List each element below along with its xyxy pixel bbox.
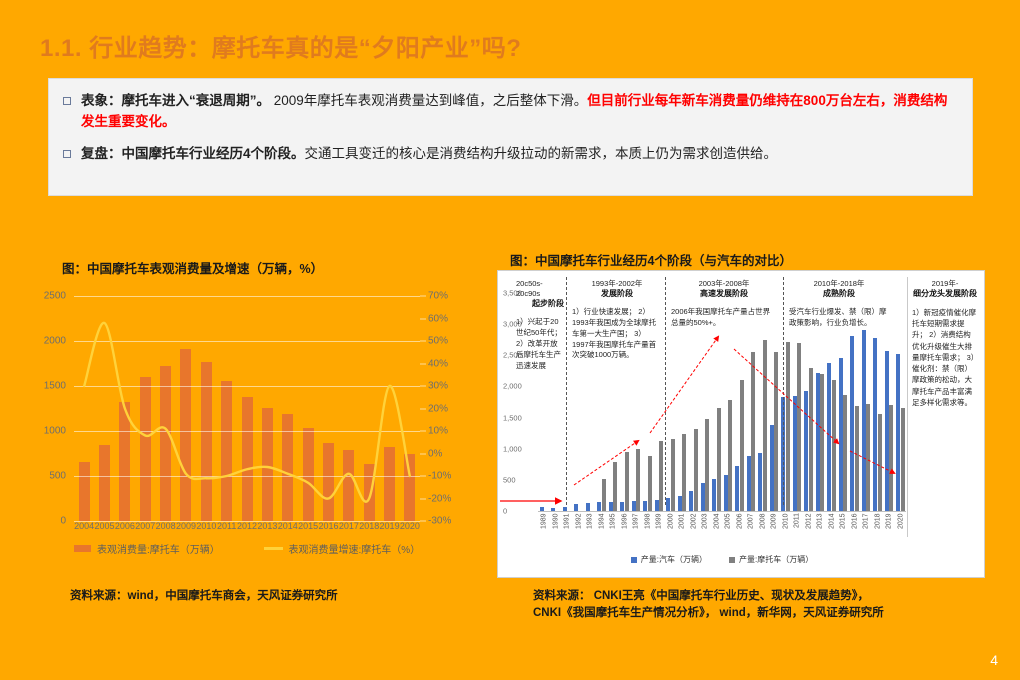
right-chart-bar-car xyxy=(586,503,590,511)
right-chart-bar-moto xyxy=(740,380,744,511)
right-chart-bar-car xyxy=(655,500,659,511)
left-chart-gridline xyxy=(74,296,420,297)
left-chart-gridline xyxy=(74,386,420,387)
right-chart-x-tick-label: 2005 xyxy=(722,513,734,545)
right-chart-x-tick-label: 2015 xyxy=(837,513,849,545)
left-chart-bar xyxy=(262,408,273,521)
right-chart-legend: 产量:汽车（万辆） 产量:摩托车（万辆） xyxy=(538,554,906,565)
right-chart-x-tick-label: 2009 xyxy=(768,513,780,545)
right-chart-y-tick-label: 2,000 xyxy=(503,382,522,391)
right-chart-x-tick-label: 1994 xyxy=(596,513,608,545)
right-chart-bar-car xyxy=(793,396,797,511)
left-chart-y2-tick-label: 20% xyxy=(428,403,448,414)
right-chart-x-tick-label: 2002 xyxy=(688,513,700,545)
right-chart-bar-moto xyxy=(889,405,893,511)
left-chart-bar-slot xyxy=(379,296,399,521)
bullet-square-icon xyxy=(63,97,71,105)
right-chart-y-tick-label: 1,500 xyxy=(503,413,522,422)
phase-column-2: 1993年-2002年发展阶段1）行业快速发展； 2）1993年我国成为全球摩托… xyxy=(572,279,662,361)
page-title: 1.1. 行业趋势：摩托车真的是“夕阳产业”吗? xyxy=(40,28,521,63)
right-chart-bar-moto xyxy=(682,434,686,511)
left-chart-y2-tick xyxy=(420,476,426,477)
right-chart-bar-moto xyxy=(659,441,663,511)
left-chart-x-tick-label: 2015 xyxy=(298,521,318,531)
left-chart-y-tick-label: 0 xyxy=(60,516,66,527)
bullet-text: 复盘：中国摩托车行业经历4个阶段。交通工具变迁的核心是消费结构升级拉动的新需求，… xyxy=(81,144,777,165)
right-chart-bar-car xyxy=(896,354,900,511)
right-chart-x-tick-label: 1997 xyxy=(630,513,642,545)
left-chart-bar xyxy=(119,402,130,521)
phase-separator-3 xyxy=(783,277,784,505)
right-chart-bar-car xyxy=(816,373,820,511)
right-chart-bar-moto xyxy=(648,456,652,511)
right-chart-bar-car xyxy=(770,425,774,511)
left-chart-y2-tick-label: 40% xyxy=(428,358,448,369)
phase-column-1: 20c50s-20c90s起步阶段1）兴起于20世纪50年代； 2）改革开放后摩… xyxy=(516,279,564,371)
left-chart-y2-tick xyxy=(420,431,426,432)
left-chart-bar-slot xyxy=(298,296,318,521)
right-chart-x-tick-label: 2018 xyxy=(872,513,884,545)
left-chart-x-tick-label: 2012 xyxy=(237,521,257,531)
left-chart-bar-slot xyxy=(115,296,135,521)
left-chart-y-tick-label: 2000 xyxy=(44,336,66,347)
left-chart-x-tick-label: 2019 xyxy=(379,521,399,531)
line-swatch-icon xyxy=(264,547,283,550)
left-chart-bar-slot xyxy=(257,296,277,521)
legend-item-car: 产量:汽车（万辆） xyxy=(631,554,707,565)
left-chart-x-tick-label: 2005 xyxy=(94,521,114,531)
right-chart-x-tick-label: 2001 xyxy=(676,513,688,545)
right-chart-bar-moto xyxy=(671,439,675,511)
bullet-item: 表象：摩托车进入“衰退周期”。 2009年摩托车表观消费量达到峰值，之后整体下滑… xyxy=(63,91,956,133)
right-chart-x-tick-label: 1999 xyxy=(653,513,665,545)
left-chart-x-tick-label: 2016 xyxy=(318,521,338,531)
left-chart-y2-tick-label: 10% xyxy=(428,426,448,437)
right-chart-bar-car xyxy=(620,502,624,511)
left-chart-y2-tick xyxy=(420,453,426,454)
left-chart-bar xyxy=(364,464,375,521)
left-chart-y2-tick xyxy=(420,363,426,364)
moto-swatch-icon xyxy=(729,557,735,563)
right-chart-x-tick-label: 1993 xyxy=(584,513,596,545)
right-figure-source: 资料来源： CNKI王亮《中国摩托车行业历史、现状及发展趋势》， CNKI《我国… xyxy=(533,588,884,623)
bullet-text: 表象：摩托车进入“衰退周期”。 2009年摩托车表观消费量达到峰值，之后整体下滑… xyxy=(81,91,956,133)
phase-name: 细分龙头发展阶段 xyxy=(912,289,978,300)
left-chart-bar xyxy=(140,377,151,521)
phase-note: 受汽车行业爆发、禁（限）摩政策影响，行业负增长。 xyxy=(789,307,889,329)
right-chart-bar-moto xyxy=(832,380,836,511)
legend-label: 表观消费量增速:摩托车（%） xyxy=(289,541,420,556)
right-chart-x-tick-label: 2004 xyxy=(711,513,723,545)
right-chart-bar-moto xyxy=(797,343,801,511)
car-swatch-icon xyxy=(631,557,637,563)
right-chart-bar-car xyxy=(850,336,854,511)
right-chart-x-tick-label: 2010 xyxy=(780,513,792,545)
right-chart-bar-moto xyxy=(878,414,882,511)
left-figure-source: 资料来源：wind，中国摩托车商会，天风证券研究所 xyxy=(70,588,338,605)
right-chart-bar-car xyxy=(666,498,670,511)
left-chart-x-tick-label: 2008 xyxy=(155,521,175,531)
bullet-square-icon xyxy=(63,150,71,158)
left-chart-bar xyxy=(282,414,293,521)
left-chart-bar-slot xyxy=(217,296,237,521)
left-chart-bar-slot xyxy=(237,296,257,521)
right-chart-axis-line xyxy=(538,511,906,512)
bar-swatch-icon xyxy=(74,545,91,552)
right-chart-x-tick-label: 2006 xyxy=(734,513,746,545)
left-chart-bar xyxy=(404,454,415,521)
left-chart-plot-area: 05001000150020002500-30%-20%-10%0%10%20%… xyxy=(74,296,420,521)
legend-item-consumption: 表观消费量:摩托车（万辆） xyxy=(74,541,220,556)
bullet-lead: 复盘：中国摩托车行业经历4个阶段。 xyxy=(81,146,305,161)
phase-name: 发展阶段 xyxy=(572,289,662,300)
right-chart-bar-moto xyxy=(809,368,813,511)
right-chart-bar-moto xyxy=(717,408,721,511)
left-chart-bar-slot xyxy=(176,296,196,521)
left-chart-y2-tick xyxy=(420,296,426,297)
right-figure-caption: 图：中国摩托车行业经历4个阶段（与汽车的对比） xyxy=(510,250,792,269)
left-chart-gridline xyxy=(74,476,420,477)
summary-box: 表象：摩托车进入“衰退周期”。 2009年摩托车表观消费量达到峰值，之后整体下滑… xyxy=(48,78,973,196)
left-chart-bar-slot xyxy=(155,296,175,521)
right-chart-bar-moto xyxy=(705,419,709,511)
right-chart-bar-car xyxy=(597,502,601,511)
right-chart-inner: 1989199019911992199319941995199619971998… xyxy=(498,271,984,577)
bullet-normal: 2009年摩托车表观消费量达到峰值，之后整体下滑。 xyxy=(270,93,587,108)
right-chart-bar-car xyxy=(678,496,682,511)
right-chart-bar-car xyxy=(701,483,705,511)
left-chart-y-tick-label: 2500 xyxy=(44,291,66,302)
phase-note: 1）兴起于20世纪50年代； 2）改革开放后摩托车生产迅速发展 xyxy=(516,317,564,371)
right-chart-x-tick-label: 2000 xyxy=(665,513,677,545)
left-chart-bar xyxy=(343,450,354,521)
right-chart-bar-moto xyxy=(855,406,859,511)
left-chart-bar-slot xyxy=(278,296,298,521)
left-chart-y2-tick-label: 50% xyxy=(428,336,448,347)
left-chart-x-tick-label: 2009 xyxy=(176,521,196,531)
right-chart-bar-car xyxy=(747,456,751,511)
right-chart-x-tick-label: 2020 xyxy=(895,513,907,545)
left-chart-bar-slot xyxy=(400,296,420,521)
left-chart-x-tick-label: 2013 xyxy=(257,521,277,531)
right-chart-divider xyxy=(907,277,908,537)
left-chart-y2-tick-label: 0% xyxy=(428,448,442,459)
right-chart-bar-moto xyxy=(774,352,778,511)
legend-label: 表观消费量:摩托车（万辆） xyxy=(97,541,220,556)
page-number: 4 xyxy=(990,652,998,668)
right-chart: 1989199019911992199319941995199619971998… xyxy=(497,270,985,578)
right-chart-bar-moto xyxy=(901,408,905,511)
left-chart-x-tick-label: 2010 xyxy=(196,521,216,531)
right-chart-x-tick-label: 1990 xyxy=(550,513,562,545)
right-chart-x-tick-label: 2019 xyxy=(883,513,895,545)
source-line-1: 资料来源： CNKI王亮《中国摩托车行业历史、现状及发展趋势》， xyxy=(533,588,884,605)
right-chart-bar-moto xyxy=(602,479,606,511)
left-chart-y2-tick xyxy=(420,408,426,409)
left-chart-bar xyxy=(384,447,395,521)
left-chart-bar-slot xyxy=(318,296,338,521)
phase-name: 成熟阶段 xyxy=(789,289,889,300)
phase-note: 2006年我国摩托车产量占世界总量的50%+。 xyxy=(671,307,777,329)
right-chart-y-tick-label: 1,000 xyxy=(503,444,522,453)
right-chart-bar-moto xyxy=(751,352,755,511)
left-chart-bar xyxy=(160,366,171,521)
left-chart-bar xyxy=(221,381,232,521)
right-chart-x-tick-label: 1998 xyxy=(642,513,654,545)
source-line-2: CNKI《我国摩托车生产情况分析》， wind，新华网，天风证券研究所 xyxy=(533,605,884,622)
right-chart-x-tick-label: 2017 xyxy=(860,513,872,545)
right-chart-bar-car xyxy=(862,330,866,511)
left-chart-y2-tick-label: 30% xyxy=(428,381,448,392)
right-chart-x-tick-label: 1996 xyxy=(619,513,631,545)
phase-years: 1993年-2002年 xyxy=(572,279,662,289)
phase-column-5: 2019年- 细分龙头发展阶段 1）新冠疫情催化摩托车短期需求提升； 2）消费结… xyxy=(912,279,978,408)
left-chart-y2-tick xyxy=(420,341,426,342)
right-chart-bar-car xyxy=(574,504,578,511)
phase-separator-1 xyxy=(566,277,567,505)
right-chart-x-tick-label: 1995 xyxy=(607,513,619,545)
right-chart-bar-slot xyxy=(895,293,907,511)
left-figure-caption: 图：中国摩托车表观消费量及增速（万辆，%） xyxy=(62,258,323,277)
right-chart-bar-moto xyxy=(636,449,640,511)
left-chart-x-tick-label: 2006 xyxy=(115,521,135,531)
left-chart-bar xyxy=(79,462,90,521)
left-chart-bar xyxy=(99,445,110,521)
right-chart-bar-moto xyxy=(866,404,870,511)
right-chart-bar-moto xyxy=(786,342,790,511)
right-chart-y-tick-label: 500 xyxy=(503,475,516,484)
phase-column-4: 2010年-2018年成熟阶段受汽车行业爆发、禁（限）摩政策影响，行业负增长。 xyxy=(789,279,889,329)
left-chart: 05001000150020002500-30%-20%-10%0%10%20%… xyxy=(18,288,478,568)
right-chart-x-axis: 1989199019911992199319941995199619971998… xyxy=(538,513,906,545)
legend-item-growth: 表观消费量增速:摩托车（%） xyxy=(264,541,420,556)
right-chart-bar-car xyxy=(632,501,636,511)
left-chart-y2-tick-label: -10% xyxy=(428,471,451,482)
left-chart-bar xyxy=(323,443,334,521)
left-chart-x-tick-label: 2014 xyxy=(278,521,298,531)
bullet-normal: 交通工具变迁的核心是消费结构升级拉动的新需求，本质上仍为需求创造供给。 xyxy=(305,146,778,161)
left-chart-y2-tick xyxy=(420,498,426,499)
phase-note: 1）新冠疫情催化摩托车短期需求提升； 2）消费结构优化升级催生大排量摩托车需求；… xyxy=(912,307,978,408)
right-chart-bar-car xyxy=(804,391,808,511)
right-chart-x-tick-label: 2016 xyxy=(849,513,861,545)
right-chart-bar-car xyxy=(643,501,647,511)
right-chart-bar-moto xyxy=(728,400,732,511)
left-chart-bar-slot xyxy=(196,296,216,521)
left-chart-x-tick-label: 2004 xyxy=(74,521,94,531)
phase-name: 高速发展阶段 xyxy=(671,289,777,300)
right-chart-x-tick-label: 1991 xyxy=(561,513,573,545)
right-chart-x-tick-label: 2014 xyxy=(826,513,838,545)
right-chart-bar-moto xyxy=(694,429,698,511)
left-chart-y2-tick-label: -30% xyxy=(428,516,451,527)
left-chart-x-tick-label: 2018 xyxy=(359,521,379,531)
left-chart-bars xyxy=(74,296,420,521)
right-chart-x-tick-label: 1992 xyxy=(573,513,585,545)
left-chart-x-tick-label: 2011 xyxy=(217,521,237,531)
left-chart-gridline xyxy=(74,341,420,342)
right-chart-bar-car xyxy=(724,475,728,511)
legend-label: 产量:摩托车（万辆） xyxy=(739,554,813,565)
phase-separator-2 xyxy=(665,277,666,505)
left-chart-gridline xyxy=(74,431,420,432)
right-chart-bar-car xyxy=(885,351,889,511)
left-chart-x-tick-label: 2017 xyxy=(339,521,359,531)
phase-years: 2003年-2008年 xyxy=(671,279,777,289)
right-chart-bar-moto xyxy=(820,374,824,511)
right-chart-bar-car xyxy=(873,338,877,511)
left-chart-y2-tick xyxy=(420,318,426,319)
left-chart-bar-slot xyxy=(74,296,94,521)
left-chart-x-tick-label: 2020 xyxy=(400,521,420,531)
right-chart-x-tick-label: 2011 xyxy=(791,513,803,545)
right-chart-bar-car xyxy=(758,453,762,511)
left-chart-bar-slot xyxy=(94,296,114,521)
left-chart-bar xyxy=(303,428,314,521)
legend-item-moto: 产量:摩托车（万辆） xyxy=(729,554,813,565)
left-chart-y2-tick xyxy=(420,521,426,522)
left-chart-bar-slot xyxy=(135,296,155,521)
left-chart-y2-tick-label: 70% xyxy=(428,291,448,302)
slide-canvas: 1.1. 行业趋势：摩托车真的是“夕阳产业”吗? 表象：摩托车进入“衰退周期”。… xyxy=(0,0,1020,680)
right-chart-bar-car xyxy=(839,358,843,511)
phase-name: 起步阶段 xyxy=(516,299,564,310)
legend-label: 产量:汽车（万辆） xyxy=(641,554,707,565)
right-chart-bar-moto xyxy=(843,395,847,511)
right-chart-x-tick-label: 2008 xyxy=(757,513,769,545)
phase-years: 2019年- xyxy=(912,279,978,289)
left-chart-x-tick-label: 2007 xyxy=(135,521,155,531)
left-chart-bar xyxy=(242,397,253,521)
right-chart-bar-car xyxy=(827,363,831,511)
bullet-item: 复盘：中国摩托车行业经历4个阶段。交通工具变迁的核心是消费结构升级拉动的新需求，… xyxy=(63,144,956,165)
right-chart-bar-car xyxy=(609,502,613,511)
left-chart-bar-slot xyxy=(359,296,379,521)
right-chart-bar-car xyxy=(712,479,716,511)
right-chart-bar-car xyxy=(735,466,739,511)
left-chart-y2-tick-label: 60% xyxy=(428,313,448,324)
left-chart-y-tick-label: 500 xyxy=(49,471,66,482)
left-chart-y-tick-label: 1500 xyxy=(44,381,66,392)
right-chart-x-tick-label: 2007 xyxy=(745,513,757,545)
right-chart-y-tick-label: 0 xyxy=(503,507,507,516)
right-chart-x-tick-label: 2013 xyxy=(814,513,826,545)
left-chart-legend: 表观消费量:摩托车（万辆） 表观消费量增速:摩托车（%） xyxy=(74,541,420,556)
left-chart-y2-tick xyxy=(420,386,426,387)
right-chart-bar-car xyxy=(689,491,693,511)
right-chart-x-tick-label: 1989 xyxy=(538,513,550,545)
right-chart-x-tick-label: 2003 xyxy=(699,513,711,545)
phase-years: 20c50s-20c90s xyxy=(516,279,564,299)
left-chart-bar xyxy=(180,349,191,521)
left-chart-y2-tick-label: -20% xyxy=(428,493,451,504)
left-chart-bar-slot xyxy=(339,296,359,521)
phase-years: 2010年-2018年 xyxy=(789,279,889,289)
right-chart-bar-moto xyxy=(625,452,629,511)
left-chart-y-tick-label: 1000 xyxy=(44,426,66,437)
bullet-lead: 表象：摩托车进入“衰退周期”。 xyxy=(81,93,270,108)
right-chart-bar-moto xyxy=(613,462,617,511)
right-chart-bar-moto xyxy=(763,340,767,511)
left-chart-x-axis: 2004200520062007200820092010201120122013… xyxy=(74,521,420,531)
phase-column-3: 2003年-2008年高速发展阶段2006年我国摩托车产量占世界总量的50%+。 xyxy=(671,279,777,329)
right-chart-x-tick-label: 2012 xyxy=(803,513,815,545)
phase-note: 1）行业快速发展； 2）1993年我国成为全球摩托车第一大生产国； 3）1997… xyxy=(572,307,662,361)
